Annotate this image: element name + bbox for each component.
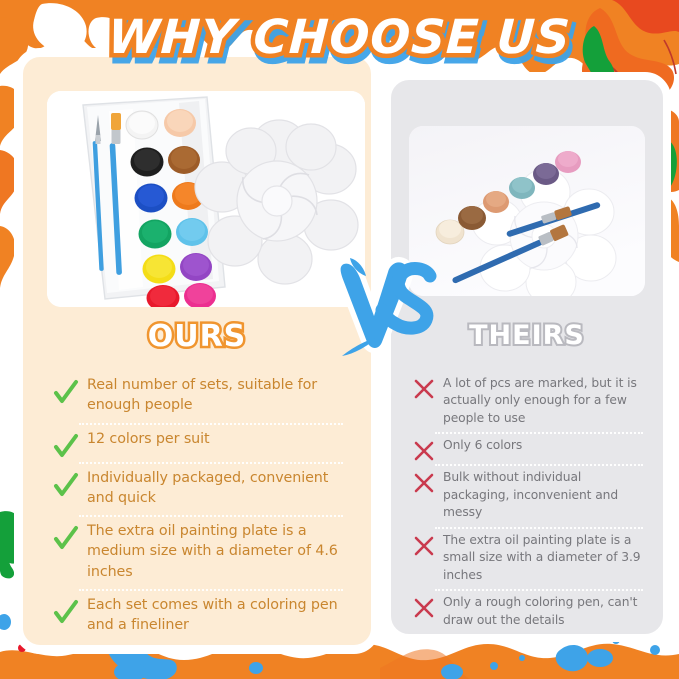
pot-lightblue bbox=[176, 218, 208, 246]
list-item: Only 6 colors bbox=[413, 432, 647, 464]
pot-pink bbox=[555, 151, 581, 173]
list-item: The extra oil painting plate is a small … bbox=[413, 527, 647, 589]
check-icon bbox=[53, 472, 79, 498]
cross-icon bbox=[413, 440, 435, 462]
comparison-infographic: WHY CHOOSE US WHY CHOOSE US bbox=[0, 0, 679, 679]
page-title-text: WHY CHOOSE US bbox=[107, 10, 573, 65]
list-item: Real number of sets, suitable for enough… bbox=[53, 369, 347, 423]
ours-feature-list: Real number of sets, suitable for enough… bbox=[23, 369, 371, 643]
pot-tan bbox=[483, 191, 509, 213]
pot-brown bbox=[168, 146, 200, 174]
pot-peach bbox=[164, 109, 196, 137]
list-item-text: Individually packaged, convenient and qu… bbox=[87, 468, 347, 509]
pot-purple bbox=[533, 163, 559, 185]
cross-icon bbox=[413, 597, 435, 619]
list-item-text: The extra oil painting plate is a medium… bbox=[87, 521, 347, 582]
list-item: Bulk without individual packaging, incon… bbox=[413, 464, 647, 526]
pot-brown bbox=[458, 206, 486, 230]
cross-icon bbox=[413, 472, 435, 494]
vs-badge bbox=[330, 238, 454, 362]
list-item: Only a rough coloring pen, can't draw ou… bbox=[413, 589, 647, 634]
theirs-feature-list: A lot of pcs are marked, but it is actua… bbox=[391, 370, 663, 634]
ours-photo-svg bbox=[47, 91, 365, 307]
list-item-text: 12 colors per suit bbox=[87, 429, 347, 449]
check-icon bbox=[53, 433, 79, 459]
list-item-text: Only 6 colors bbox=[443, 437, 647, 454]
list-item: A lot of pcs are marked, but it is actua… bbox=[413, 370, 647, 432]
list-item: 12 colors per suit bbox=[53, 423, 347, 462]
pot-white bbox=[126, 111, 158, 139]
list-item-text: Only a rough coloring pen, can't draw ou… bbox=[443, 594, 647, 629]
check-icon bbox=[53, 525, 79, 551]
orange-splash-left-4 bbox=[0, 226, 15, 288]
ours-heading: OURS bbox=[23, 319, 371, 354]
pot-blue bbox=[135, 184, 168, 213]
list-item: Each set comes with a coloring pen and a… bbox=[53, 589, 347, 643]
page-title: WHY CHOOSE US WHY CHOOSE US bbox=[0, 6, 679, 68]
check-icon bbox=[53, 379, 79, 405]
list-item: Individually packaged, convenient and qu… bbox=[53, 462, 347, 516]
list-item-text: A lot of pcs are marked, but it is actua… bbox=[443, 375, 647, 427]
pot-black bbox=[131, 148, 164, 177]
list-item-text: Bulk without individual packaging, incon… bbox=[443, 469, 647, 521]
ours-card: OURS Real number of sets, suitable for e… bbox=[14, 48, 380, 654]
pot-purple bbox=[180, 253, 212, 281]
list-item-text: Real number of sets, suitable for enough… bbox=[87, 375, 347, 416]
list-item: The extra oil painting plate is a medium… bbox=[53, 515, 347, 589]
ours-product-photo bbox=[47, 91, 365, 307]
pot-teal bbox=[509, 177, 535, 199]
pot-green bbox=[139, 220, 172, 249]
green-splash-left-2 bbox=[0, 540, 14, 578]
check-icon bbox=[53, 599, 79, 625]
cross-icon bbox=[413, 378, 435, 400]
list-item-text: Each set comes with a coloring pen and a… bbox=[87, 595, 347, 636]
list-item-text: The extra oil painting plate is a small … bbox=[443, 532, 647, 584]
pot-yellow bbox=[143, 255, 176, 284]
orange-band-bottom-shade bbox=[380, 649, 470, 679]
cross-icon bbox=[413, 535, 435, 557]
